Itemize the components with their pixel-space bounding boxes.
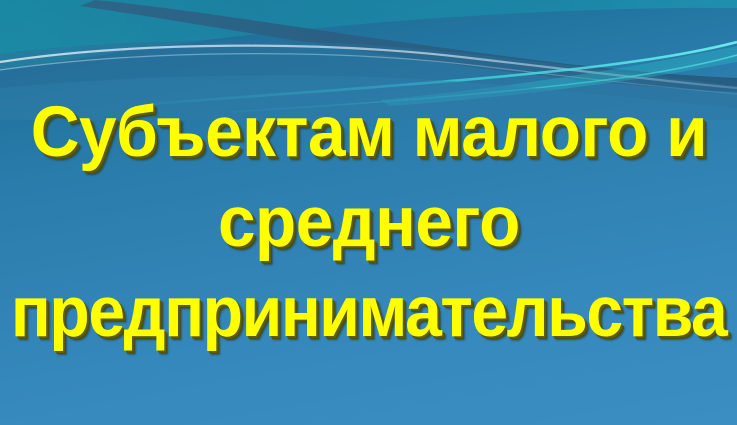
title-line-1: Субъектам малого и (30, 88, 706, 178)
title-line-2: среднего (218, 178, 520, 268)
title-line-3: предпринимательства (11, 268, 726, 358)
slide-title-block: Субъектам малого и среднего предпринимат… (0, 0, 737, 425)
presentation-slide: Субъектам малого и среднего предпринимат… (0, 0, 737, 425)
